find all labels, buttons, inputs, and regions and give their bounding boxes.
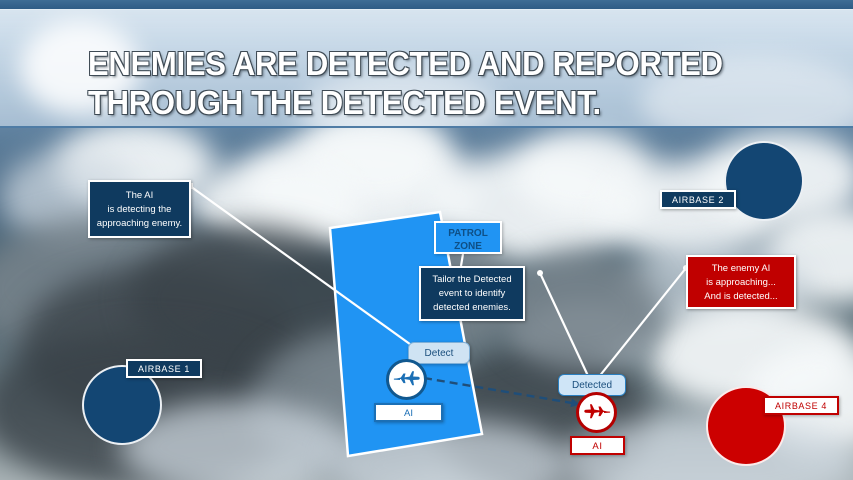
enemy-ai-callout: The enemy AI is approaching... And is de…	[686, 255, 796, 309]
ai-detecting-callout: The AI is detecting the approaching enem…	[88, 180, 191, 238]
callout-line: And is detected...	[688, 290, 794, 304]
airbase-1-label: AIRBASE 1	[126, 359, 202, 378]
enemy-jet-icon	[576, 392, 617, 433]
callout-line: Tailor the Detected	[421, 273, 523, 287]
callout-line: The enemy AI	[688, 262, 794, 276]
slide-canvas: ENEMIES ARE DETECTED AND REPORTED THROUG…	[0, 0, 853, 480]
page-title: ENEMIES ARE DETECTED AND REPORTED THROUG…	[88, 44, 774, 122]
callout-line: approaching enemy.	[90, 217, 189, 231]
airbase-4-label: AIRBASE 4	[763, 396, 839, 415]
patrol-zone-line: ZONE	[436, 240, 500, 253]
airbase-2-circle	[724, 141, 804, 221]
friendly-jet-icon	[386, 359, 427, 400]
callout-line: is detecting the	[90, 203, 189, 217]
tailor-event-callout: Tailor the Detected event to identify de…	[419, 266, 525, 321]
detect-pill[interactable]: Detect	[408, 342, 470, 364]
callout-line: The AI	[90, 189, 189, 203]
callout-line: detected enemies.	[421, 301, 523, 315]
airbase-2-label: AIRBASE 2	[660, 190, 736, 209]
patrol-zone-line: PATROL	[436, 227, 500, 240]
patrol-zone-label: PATROL ZONE	[434, 221, 502, 254]
callout-line: is approaching...	[688, 276, 794, 290]
callout-line: event to identify	[421, 287, 523, 301]
friendly-ai-label: AI	[374, 403, 443, 422]
top-accent-strip	[0, 0, 853, 9]
enemy-ai-label: AI	[570, 436, 625, 455]
